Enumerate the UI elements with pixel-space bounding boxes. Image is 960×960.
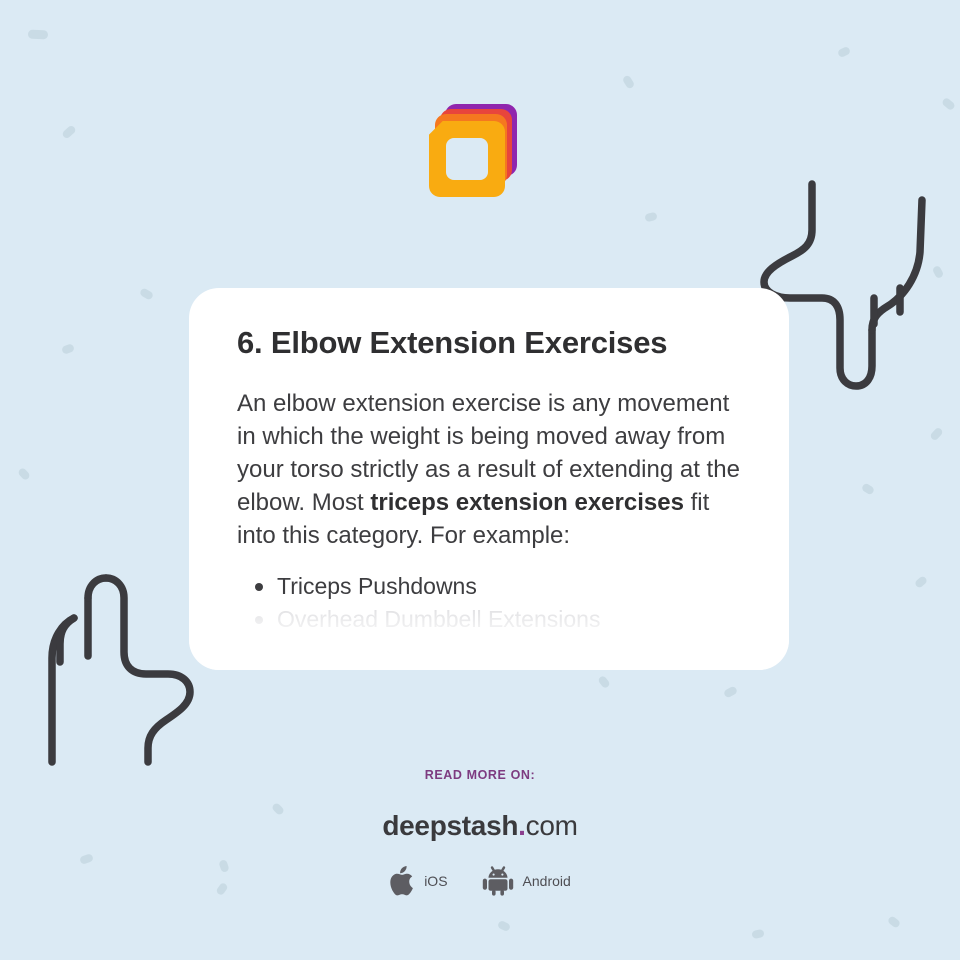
logo-inner-cutout — [446, 138, 488, 180]
app-store-badges: iOS — [0, 866, 960, 896]
confetti-speck — [17, 467, 31, 481]
screenshot-canvas: 6. Elbow Extension Exercises An elbow ex… — [0, 0, 960, 960]
confetti-speck — [723, 685, 738, 698]
content-card: 6. Elbow Extension Exercises An elbow ex… — [189, 288, 789, 670]
pointing-hand-illustration-left — [28, 566, 200, 766]
ios-store-badge[interactable]: iOS — [389, 866, 447, 896]
confetti-speck — [597, 675, 611, 689]
deepstash-logo — [429, 104, 517, 196]
apple-icon — [389, 866, 415, 896]
paragraph-bold-phrase: triceps extension exercises — [370, 489, 684, 516]
wordmark-tld: com — [526, 810, 578, 841]
list-item: Triceps Pushdowns — [237, 570, 741, 603]
page-title: 6. Elbow Extension Exercises — [237, 324, 741, 363]
confetti-speck — [61, 124, 77, 139]
confetti-speck — [644, 212, 658, 223]
confetti-speck — [941, 97, 956, 111]
android-store-badge[interactable]: Android — [482, 866, 571, 896]
wordmark-dot: . — [518, 810, 525, 841]
confetti-speck — [887, 915, 901, 929]
confetti-speck — [622, 74, 636, 89]
ios-label: iOS — [424, 873, 447, 889]
confetti-speck — [914, 575, 928, 589]
confetti-speck — [28, 30, 48, 40]
read-more-label: READ MORE ON: — [0, 768, 960, 782]
confetti-speck — [929, 426, 944, 441]
confetti-speck — [861, 482, 875, 495]
confetti-speck — [837, 46, 851, 58]
confetti-speck — [61, 343, 75, 355]
example-list: Triceps Pushdowns Overhead Dumbbell Exte… — [237, 570, 741, 636]
confetti-speck — [751, 929, 764, 939]
card-paragraph: An elbow extension exercise is any movem… — [237, 387, 741, 552]
confetti-speck — [497, 920, 511, 932]
list-item: Overhead Dumbbell Extensions — [237, 603, 741, 636]
wordmark-brand: deepstash — [382, 810, 518, 841]
confetti-speck — [932, 265, 945, 279]
confetti-speck — [139, 287, 154, 300]
android-label: Android — [523, 873, 571, 889]
android-icon — [482, 866, 514, 896]
footer: READ MORE ON: deepstash.com iOS — [0, 768, 960, 896]
deepstash-wordmark[interactable]: deepstash.com — [0, 810, 960, 842]
